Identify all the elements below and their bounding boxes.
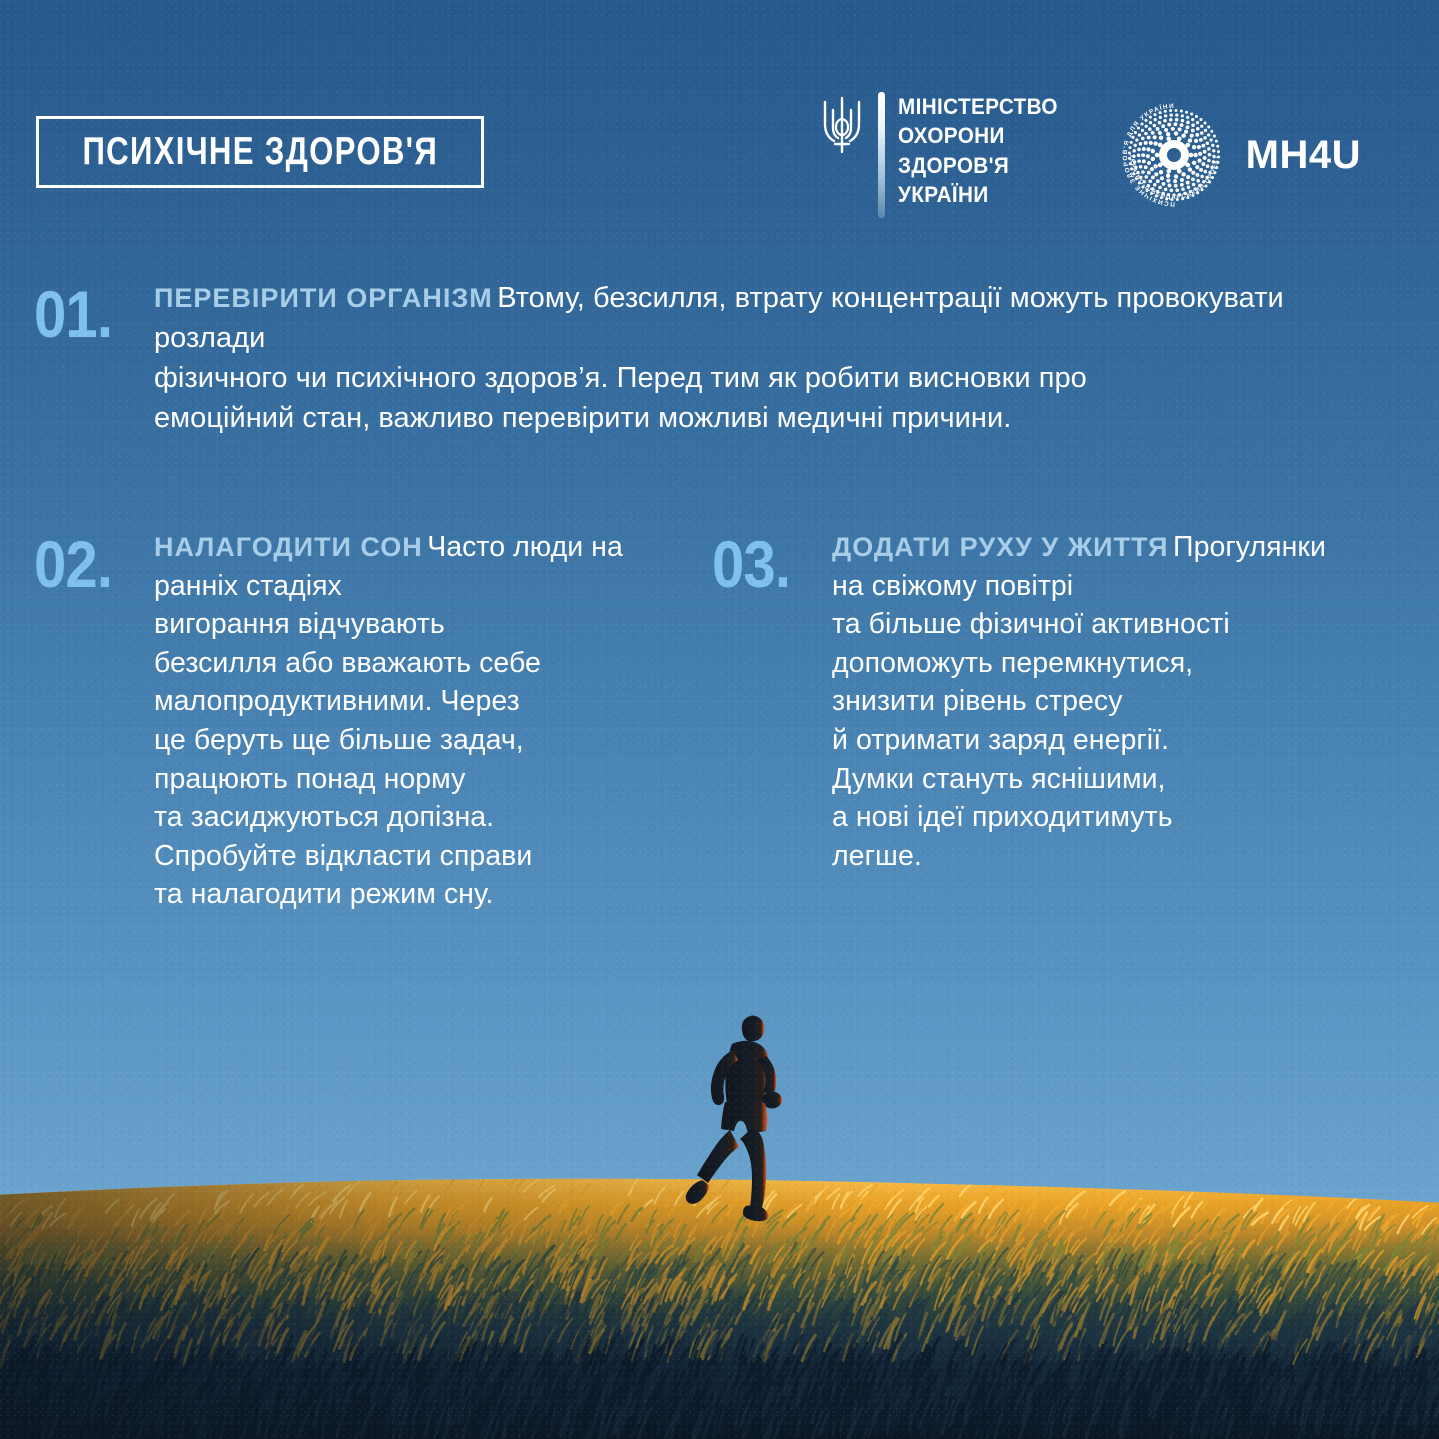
tip-heading-1: ПЕРЕВІРИТИ ОРГАНІЗМ bbox=[154, 283, 493, 313]
tip-heading-3: ДОДАТИ РУХУ У ЖИТТЯ bbox=[832, 532, 1169, 562]
tip-number-1: 01. bbox=[34, 284, 140, 438]
page-title-badge: ПСИХІЧНЕ ЗДОРОВ'Я bbox=[36, 116, 484, 188]
mh4u-wordmark: MH4U bbox=[1246, 133, 1361, 178]
ministry-line-2: ОХОРОНИ bbox=[898, 123, 1005, 148]
ministry-line-3: ЗДОРОВ'Я bbox=[898, 153, 1009, 178]
ministry-line-4: УКРАЇНИ bbox=[898, 182, 989, 207]
tip-text-2: Часто люди на ранніх стадіях вигорання в… bbox=[154, 531, 623, 910]
logo-divider bbox=[878, 92, 885, 218]
mh4u-logo: ПСИХІЧНЕ ЗДОРОВ'Я ДЛЯ УКРАЇНИ УКРАЇНО-ШВ… bbox=[1118, 99, 1361, 211]
ministry-line-1: МІНІСТЕРСТВО bbox=[898, 94, 1058, 119]
tip-block-1: 01. ПЕРЕВІРИТИ ОРГАНІЗМ Втому, безсилля,… bbox=[34, 278, 1364, 438]
tip-block-2: 02. НАЛАГОДИТИ СОН Часто люди на ранніх … bbox=[34, 528, 674, 914]
tip-number-2: 02. bbox=[34, 534, 140, 914]
mh4u-dot-ring-icon: ПСИХІЧНЕ ЗДОРОВ'Я ДЛЯ УКРАЇНИ УКРАЇНО-ШВ… bbox=[1118, 99, 1230, 211]
page-title: ПСИХІЧНЕ ЗДОРОВ'Я bbox=[82, 130, 438, 174]
tip-number-3: 03. bbox=[712, 534, 818, 875]
runner-silhouette bbox=[660, 1004, 840, 1234]
tip-text-3: Прогулянки на свіжому повітрі та більше … bbox=[832, 531, 1326, 872]
ministry-of-health-logo: МІНІСТЕРСТВО ОХОРОНИ ЗДОРОВ'Я УКРАЇНИ bbox=[819, 92, 1072, 218]
ministry-logo-text: МІНІСТЕРСТВО ОХОРОНИ ЗДОРОВ'Я УКРАЇНИ bbox=[898, 92, 1058, 209]
tip-heading-2: НАЛАГОДИТИ СОН bbox=[154, 532, 423, 562]
logo-group: МІНІСТЕРСТВО ОХОРОНИ ЗДОРОВ'Я УКРАЇНИ bbox=[819, 92, 1361, 218]
tip-block-3: 03. ДОДАТИ РУХУ У ЖИТТЯ Прогулянки на св… bbox=[712, 528, 1352, 875]
ukraine-trident-icon bbox=[819, 92, 865, 218]
infographic-poster: ПСИХІЧНЕ ЗДОРОВ'Я МІНІ bbox=[0, 0, 1439, 1439]
